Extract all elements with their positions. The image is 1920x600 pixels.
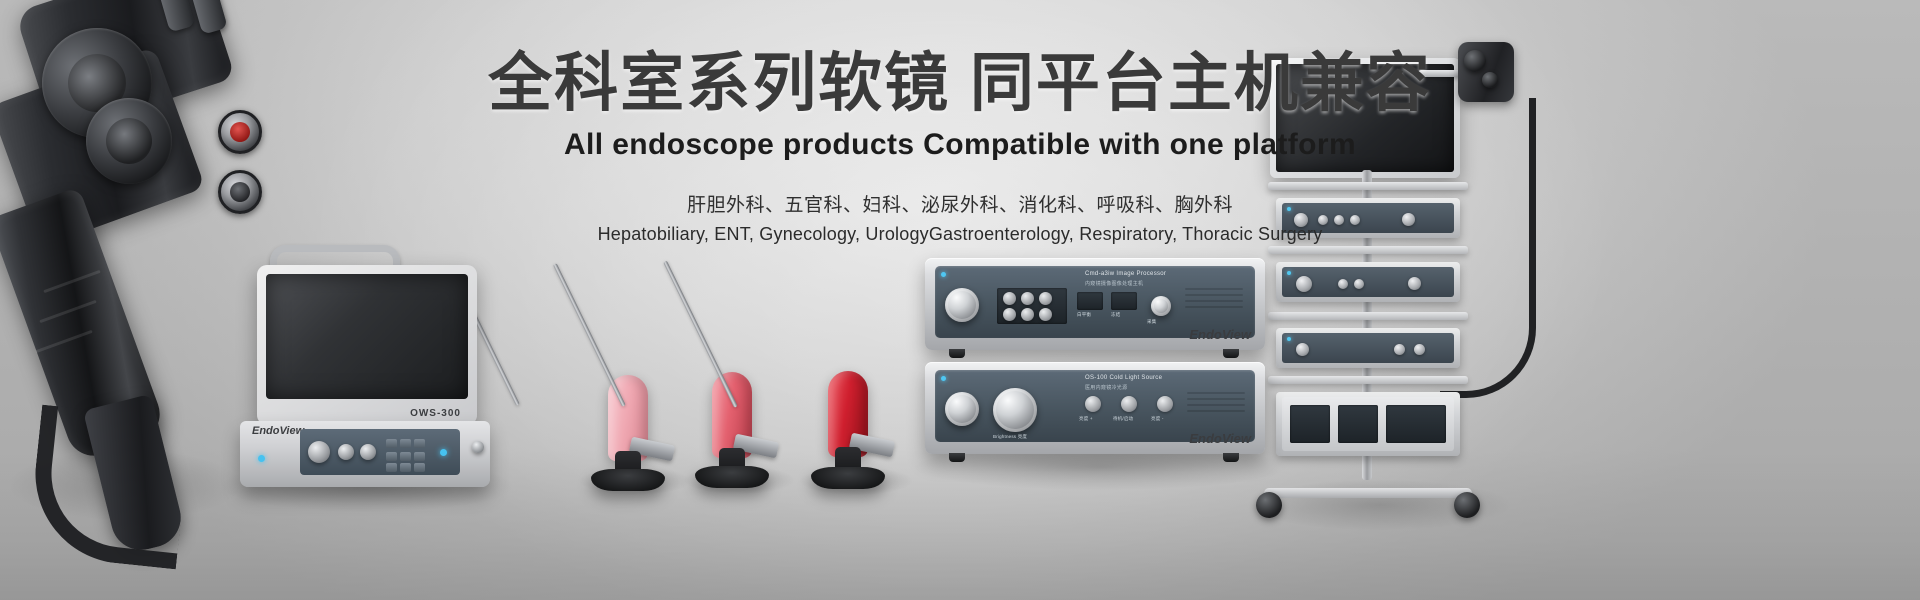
keypad-key	[400, 452, 411, 461]
workstation-model-label: OWS-300	[410, 408, 461, 419]
power-led-icon	[941, 272, 946, 277]
brightness-up-label: 亮度 +	[1079, 416, 1093, 422]
keypad-key	[400, 439, 411, 448]
unit-foot	[1223, 349, 1239, 358]
display-window	[1077, 292, 1103, 310]
cart-shelf-middle	[1268, 246, 1468, 254]
status-led-icon	[440, 449, 447, 456]
cart-device-2	[1276, 262, 1460, 302]
processor-brand-label: EndoView	[1189, 327, 1251, 342]
vent-slot	[1187, 404, 1245, 406]
unit-foot	[949, 453, 965, 462]
control-knob-small	[338, 444, 354, 460]
workstation-control-panel	[300, 429, 460, 475]
endoview-equipment-stack: Cmd-a3iw Image Processor 内窥镜摄像图像处理主机 白平衡…	[925, 258, 1270, 468]
keypad-key	[414, 452, 425, 461]
enter-button	[1039, 292, 1052, 305]
vent-slot	[1185, 288, 1243, 290]
cart-device-panel	[1282, 333, 1454, 363]
vent-slot	[1187, 398, 1245, 400]
processor-title-en: Cmd-a3iw Image Processor	[1085, 271, 1166, 277]
workstation-ows-300: OWS-300 EndoView	[232, 245, 492, 485]
capture-knob	[1151, 296, 1171, 316]
usb-port-icon	[1111, 292, 1137, 310]
main-control-knob	[945, 288, 979, 322]
keypad-key	[414, 463, 425, 472]
workstation-display-bezel: OWS-300	[257, 265, 477, 425]
cart-shelf-bottom	[1268, 376, 1468, 384]
vent-slot	[1185, 300, 1243, 302]
department-list-chinese: 肝胆外科、五官科、妇科、泌尿外科、消化科、呼吸科、胸外科	[0, 190, 1920, 217]
brightness-down-label: 亮度 -	[1151, 416, 1164, 422]
cart-shelf-lower	[1268, 312, 1468, 320]
power-led-icon	[258, 455, 265, 462]
cart-caster-wheel	[1256, 492, 1282, 518]
up-button	[1021, 292, 1034, 305]
flexible-endoscope-red	[730, 245, 885, 490]
menu-button	[1003, 292, 1016, 305]
power-led-icon	[941, 376, 946, 381]
down-button	[1021, 308, 1034, 321]
capture-label: 采集	[1147, 319, 1156, 325]
cart-device-panel	[1282, 267, 1454, 297]
camera-image-processor: Cmd-a3iw Image Processor 内窥镜摄像图像处理主机 白平衡…	[925, 258, 1265, 350]
device-knob	[1296, 343, 1309, 356]
workstation-base: EndoView	[240, 421, 490, 487]
device-knob	[1354, 279, 1364, 289]
control-knob	[308, 441, 330, 463]
banner-text-block: 全科室系列软镜 同平台主机兼容 All endoscope products C…	[0, 48, 1920, 245]
status-led-icon	[1287, 337, 1291, 341]
keypad-key	[414, 439, 425, 448]
workstation-brand-label: EndoView	[252, 425, 304, 437]
banner-headline: 全科室系列软镜 同平台主机兼容	[0, 48, 1920, 118]
module-slot-wide	[1386, 405, 1446, 443]
umbilical-cable	[27, 405, 192, 570]
freeze-label: 冻结	[1111, 312, 1120, 318]
vent-slot	[1185, 306, 1243, 308]
scope-stand-base	[811, 467, 885, 489]
cart-device-panel	[1282, 397, 1454, 451]
standby-label: 待机/启动	[1113, 416, 1133, 422]
device-knob	[1338, 279, 1348, 289]
cart-base-bar	[1264, 488, 1472, 498]
standby-button	[1121, 396, 1137, 412]
brightness-down-button	[1157, 396, 1173, 412]
module-slot	[1290, 405, 1330, 443]
endoscope-marketing-banner: OWS-300 EndoView	[0, 0, 1920, 600]
white-balance-label: 白平衡	[1077, 312, 1091, 318]
vent-slot	[1185, 294, 1243, 296]
device-knob	[1296, 276, 1312, 292]
light-source-title-en: OS-100 Cold Light Source	[1085, 375, 1162, 381]
vent-slot	[1187, 392, 1245, 394]
device-knob	[1394, 344, 1405, 355]
brightness-up-button	[1085, 396, 1101, 412]
left-button	[1003, 308, 1016, 321]
light-guide-port	[945, 392, 979, 426]
vent-slot	[1187, 410, 1245, 412]
cold-light-source: OS-100 Cold Light Source 医用内窥镜冷光源 Bright…	[925, 362, 1265, 454]
brightness-dial-label: Brightness 亮度	[993, 434, 1027, 440]
light-source-title-zh: 医用内窥镜冷光源	[1085, 384, 1127, 391]
brightness-dial	[993, 388, 1037, 432]
unit-foot	[1223, 453, 1239, 462]
cart-device-3	[1276, 328, 1460, 368]
status-led-icon	[1287, 271, 1291, 275]
device-knob	[1414, 344, 1425, 355]
module-slot	[1338, 405, 1378, 443]
processor-title-zh: 内窥镜摄像图像处理主机	[1085, 280, 1143, 287]
right-button	[1039, 308, 1052, 321]
unit-foot	[949, 349, 965, 358]
light-source-brand-label: EndoView	[1189, 431, 1251, 446]
cart-device-4	[1276, 392, 1460, 456]
workstation-screen	[266, 274, 468, 399]
banner-subheadline: All endoscope products Compatible with o…	[0, 128, 1920, 162]
keypad-key	[386, 463, 397, 472]
department-list-english: Hepatobiliary, ENT, Gynecology, UrologyG…	[0, 224, 1920, 245]
cart-caster-wheel	[1454, 492, 1480, 518]
side-port	[472, 441, 484, 453]
control-knob-small	[360, 444, 376, 460]
keypad-key	[400, 463, 411, 472]
keypad-key	[386, 452, 397, 461]
keypad-key	[386, 439, 397, 448]
device-knob	[1408, 277, 1421, 290]
